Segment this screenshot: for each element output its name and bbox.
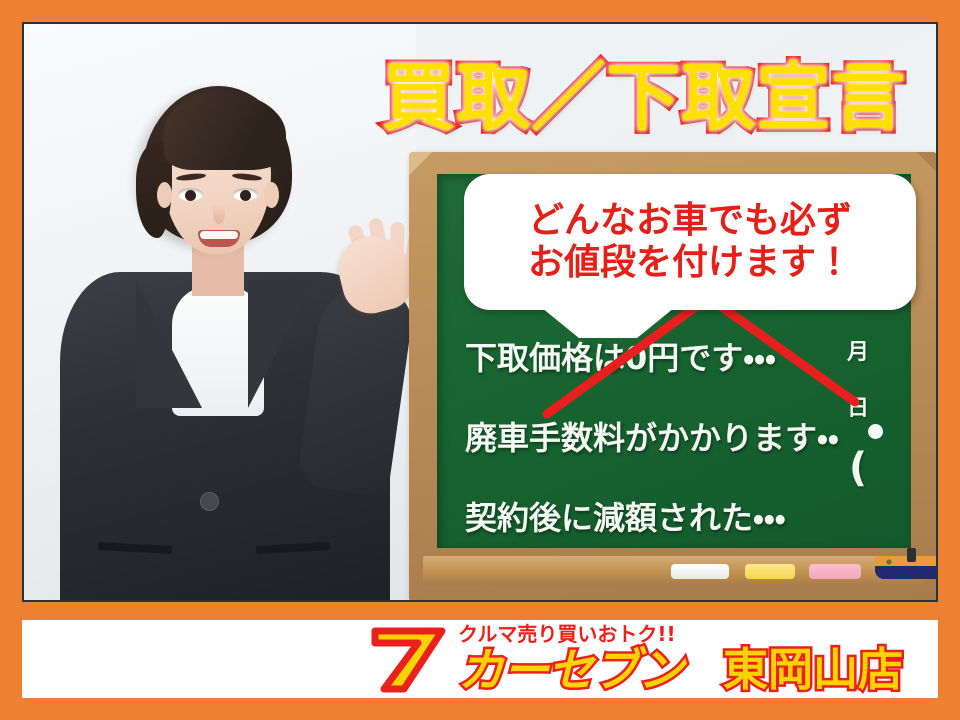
speech-bubble-line-1: どんなお車でも必ず (528, 201, 852, 241)
teeth (200, 231, 238, 239)
jacket-lapel-left (136, 280, 202, 408)
blackboard-eraser (873, 548, 938, 580)
date-month-label: 月 (847, 342, 869, 364)
footer-logo-band: クルマ売り買いおトク!! カーセブン 東岡山店 (22, 620, 938, 698)
pupil (240, 190, 251, 201)
brand-text-block: クルマ売り買いおトク!! カーセブン (458, 624, 683, 693)
jacket-button (200, 492, 219, 511)
date-day-label: 日 (847, 398, 869, 420)
headline-banner: 買取／下取宣言 (324, 52, 938, 144)
chalk-dot-mark (868, 424, 883, 439)
jacket-lapel-right (248, 280, 314, 408)
main-content-panel: 下取価格は0円です・・・ 廃車手数料がかかります・・ 契約後に減額された・・・ … (22, 22, 938, 602)
white-chalk (671, 564, 729, 579)
nose (213, 204, 225, 224)
speech-bubble-line-2: お値段を付けます！ (528, 243, 852, 283)
date-weekday-paren: ( (849, 454, 867, 482)
store-name: 東岡山店 (723, 647, 903, 692)
yellow-chalk (745, 564, 795, 579)
pink-chalk (809, 564, 861, 579)
eye-right (233, 188, 258, 201)
pupil (185, 190, 196, 201)
advertisement-poster: 下取価格は0円です・・・ 廃車手数料がかかります・・ 契約後に減額された・・・ … (0, 0, 960, 720)
seven-logo-icon (370, 627, 448, 693)
eye-left (178, 188, 203, 201)
presenter-photo (24, 24, 416, 600)
mouth (198, 230, 240, 247)
blackboard-date-column: 月 日 ( (841, 342, 875, 482)
brand-tagline: クルマ売り買いおトク!! (458, 624, 676, 644)
page-title: 買取／下取宣言 (382, 61, 907, 135)
brand-logo-group: クルマ売り買いおトク!! カーセブン 東岡山店 (370, 624, 903, 695)
brand-name: カーセブン (458, 647, 683, 693)
ear-right (264, 182, 279, 208)
blackboard-line-3: 契約後に減額された・・・ (465, 502, 911, 534)
ear-left (157, 182, 172, 208)
speech-bubble: どんなお車でも必ず お値段を付けます！ (464, 174, 916, 310)
